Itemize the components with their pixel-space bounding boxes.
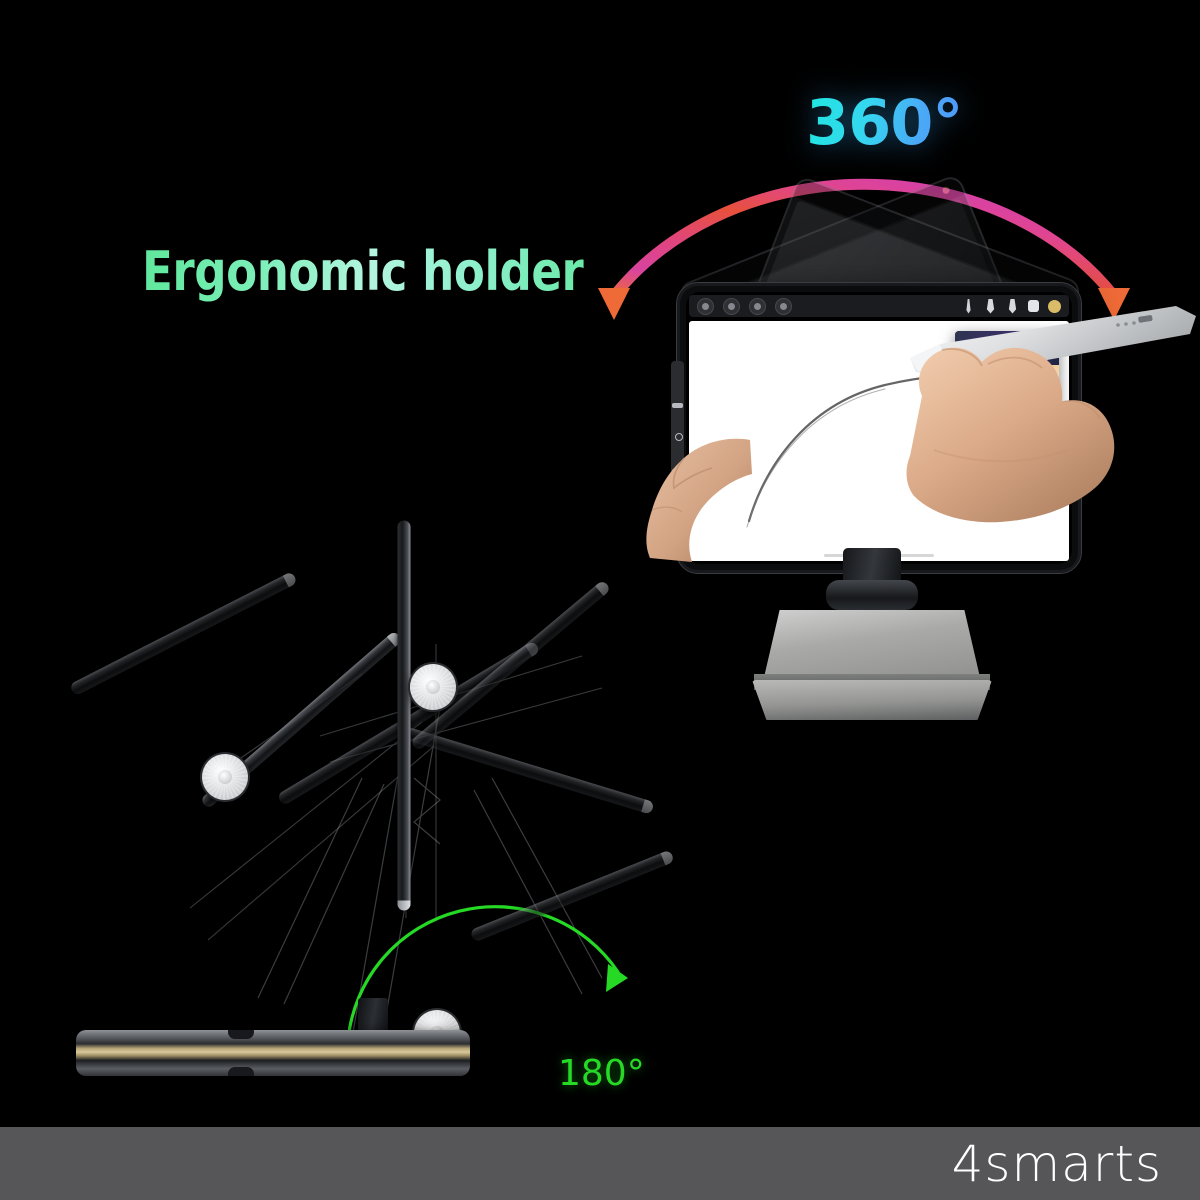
stand-pivot-mid — [202, 754, 248, 800]
page-title: Ergonomic holder — [142, 240, 583, 303]
poster-stage: Ergonomic holder 360° — [0, 0, 1200, 1200]
brand-logo: 4smarts — [952, 1135, 1162, 1193]
arc-arrow-left — [598, 288, 630, 320]
footer-bar: 4smarts — [0, 1127, 1200, 1200]
smudge-tool-icon[interactable] — [723, 298, 740, 315]
rotating-tablet-stand — [736, 548, 1008, 724]
brush-tool-icon[interactable] — [697, 298, 714, 315]
stand-folded-base — [76, 1030, 470, 1076]
stand-hinge-cylinder — [826, 580, 918, 610]
stand-pivot-upper — [410, 664, 456, 710]
toolbar-left-group[interactable] — [697, 298, 792, 315]
erase-tool-icon[interactable] — [749, 298, 766, 315]
rotation-degree-label: 360° — [806, 86, 962, 159]
stand-arm-vertical — [398, 521, 411, 911]
folding-stand-diagram — [62, 478, 682, 1128]
fold-degree-label: 180° — [558, 1053, 645, 1094]
stand-base-bottom — [752, 680, 992, 720]
layers-tool-icon[interactable] — [775, 298, 792, 315]
hand-holding-stylus — [904, 300, 1200, 530]
